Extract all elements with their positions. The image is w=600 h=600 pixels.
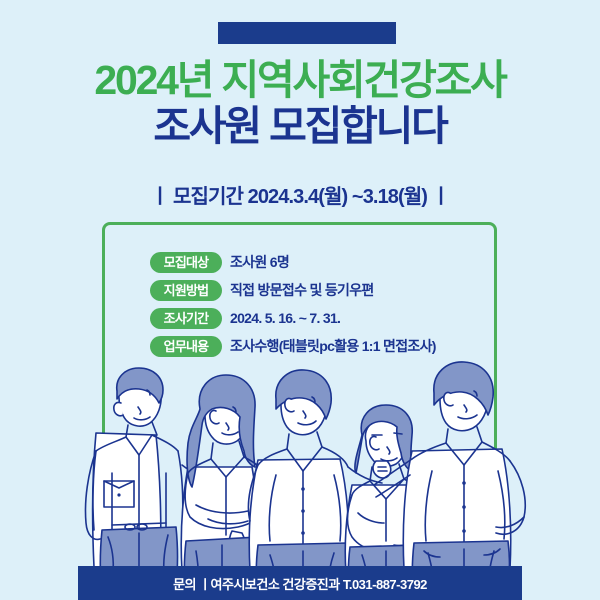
- footer-contact-bar: 문의 ㅣ여주시보건소 건강증진과 T.031-887-3792: [78, 566, 522, 600]
- info-label-method: 지원방법: [150, 280, 222, 301]
- info-list: 모집대상 조사원 6명 지원방법 직접 방문접수 및 등기우편 조사기간 202…: [150, 250, 500, 362]
- info-value-survey-period: 2024. 5. 16. ~ 7. 31.: [230, 310, 340, 326]
- info-row: 모집대상 조사원 6명: [150, 250, 500, 274]
- recruitment-period: ㅣ 모집기간 2024.3.4(월) ~3.18(월) ㅣ: [0, 180, 600, 209]
- info-label-survey-period: 조사기간: [150, 308, 222, 329]
- poster-root: 2024년 지역사회건강조사 조사원 모집합니다 ㅣ 모집기간 2024.3.4…: [0, 0, 600, 600]
- info-label-duties: 업무내용: [150, 336, 222, 357]
- info-row: 지원방법 직접 방문접수 및 등기우편: [150, 278, 500, 302]
- headline-line-2: 조사원 모집합니다: [0, 103, 600, 150]
- people-illustration: [0, 355, 600, 585]
- info-value-method: 직접 방문접수 및 등기우편: [230, 280, 374, 300]
- info-value-duties: 조사수행(태블릿pc활용 1:1 면접조사): [230, 336, 436, 356]
- top-accent-bar: [218, 22, 396, 44]
- contact-text: 문의 ㅣ여주시보건소 건강증진과 T.031-887-3792: [173, 574, 427, 593]
- page-title: 2024년 지역사회건강조사 조사원 모집합니다: [0, 58, 600, 150]
- headline-line-1: 2024년 지역사회건강조사: [0, 58, 600, 103]
- info-label-target: 모집대상: [150, 252, 222, 273]
- info-value-target: 조사원 6명: [230, 252, 289, 272]
- people-illustration-svg: [0, 355, 600, 585]
- info-row: 조사기간 2024. 5. 16. ~ 7. 31.: [150, 306, 500, 330]
